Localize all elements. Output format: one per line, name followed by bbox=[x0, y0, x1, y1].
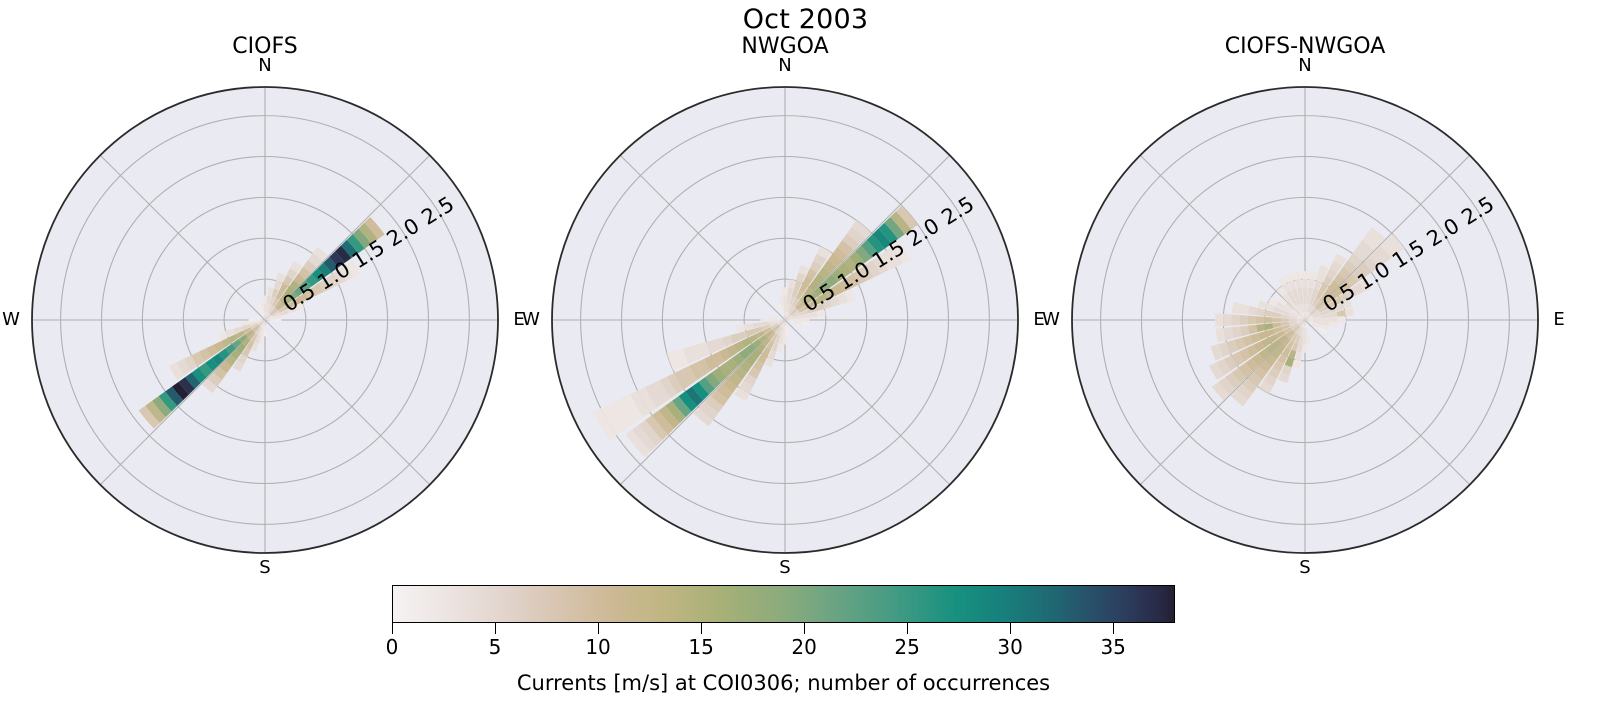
windrose-bar bbox=[1280, 318, 1288, 322]
colorbar-tick-label: 30 bbox=[997, 635, 1022, 659]
windrose-bar bbox=[1302, 279, 1308, 287]
windrose-bar bbox=[1338, 317, 1346, 323]
colorbar-tick bbox=[392, 623, 393, 634]
windrose-bar bbox=[1240, 315, 1248, 325]
windrose-bar bbox=[1302, 344, 1307, 352]
direction-label-west: W bbox=[1, 310, 21, 330]
colorbar-tick bbox=[907, 623, 908, 634]
windrose-bar bbox=[1215, 313, 1223, 327]
direction-label-west: W bbox=[521, 310, 541, 330]
polar-panel-ciofs: CIOFS 0.51.01.52.02.5 N S W E bbox=[25, 80, 505, 580]
windrose-bar bbox=[1301, 271, 1309, 279]
colorbar-gradient bbox=[392, 585, 1175, 623]
polar-axes: 0.51.01.52.02.5 bbox=[1065, 80, 1545, 560]
windrose-bar bbox=[1329, 317, 1337, 322]
colorbar-tick-label: 0 bbox=[386, 635, 399, 659]
windrose-bar bbox=[263, 295, 267, 303]
windrose-bar bbox=[1264, 317, 1272, 323]
windrose-figure: Oct 2003 CIOFS 0.51.01.52.02.5 N S W E N… bbox=[0, 0, 1611, 724]
colorbar-tick-label: 25 bbox=[894, 635, 919, 659]
direction-label-west: W bbox=[1041, 310, 1061, 330]
polar-panel-nwgoa: NWGOA 0.51.01.52.02.5 N S W E bbox=[545, 80, 1025, 580]
colorbar-tick bbox=[1010, 623, 1011, 634]
colorbar: 05101520253035 Currents [m/s] at COI0306… bbox=[392, 585, 1175, 625]
direction-label-south: S bbox=[1065, 558, 1545, 578]
polar-axes: 0.51.01.52.02.5 bbox=[25, 80, 505, 560]
colorbar-tick bbox=[804, 623, 805, 634]
direction-label-east: E bbox=[1549, 310, 1569, 330]
direction-label-north: N bbox=[545, 56, 1025, 76]
windrose-bar bbox=[1272, 317, 1280, 322]
colorbar-tick-label: 5 bbox=[489, 635, 502, 659]
windrose-bar bbox=[1231, 314, 1239, 325]
colorbar-tick bbox=[1113, 623, 1114, 634]
colorbar-tick-label: 10 bbox=[585, 635, 610, 659]
windrose-bar bbox=[1248, 316, 1256, 325]
windrose-bar bbox=[783, 295, 787, 303]
windrose-bar bbox=[1303, 336, 1307, 344]
direction-label-north: N bbox=[1065, 56, 1545, 76]
direction-label-south: S bbox=[25, 558, 505, 578]
colorbar-tick bbox=[495, 623, 496, 634]
windrose-bar bbox=[783, 336, 787, 344]
windrose-bar bbox=[760, 318, 768, 322]
windrose-bar bbox=[1303, 295, 1307, 303]
windrose-bar bbox=[782, 287, 787, 295]
windrose-bar bbox=[1321, 318, 1329, 322]
windrose-bar bbox=[1302, 287, 1307, 295]
colorbar-tick-label: 20 bbox=[791, 635, 816, 659]
windrose-bar bbox=[1223, 314, 1231, 327]
colorbar-tick bbox=[598, 623, 599, 634]
direction-label-north: N bbox=[25, 56, 505, 76]
colorbar-tick bbox=[701, 623, 702, 634]
colorbar-tick-label: 35 bbox=[1100, 635, 1125, 659]
direction-label-south: S bbox=[545, 558, 1025, 578]
windrose-bar bbox=[1256, 316, 1264, 324]
colorbar-label: Currents [m/s] at COI0306; number of occ… bbox=[272, 671, 1295, 696]
polar-axes: 0.51.01.52.02.5 bbox=[545, 80, 1025, 560]
figure-suptitle: Oct 2003 bbox=[0, 4, 1611, 36]
polar-panel-ciofs-nwgoa: CIOFS-NWGOA 0.51.01.52.02.5 N S W E bbox=[1065, 80, 1545, 580]
colorbar-tick-label: 15 bbox=[688, 635, 713, 659]
colorbar-ticks: 05101520253035 bbox=[392, 623, 1175, 657]
windrose-bar bbox=[801, 318, 809, 322]
